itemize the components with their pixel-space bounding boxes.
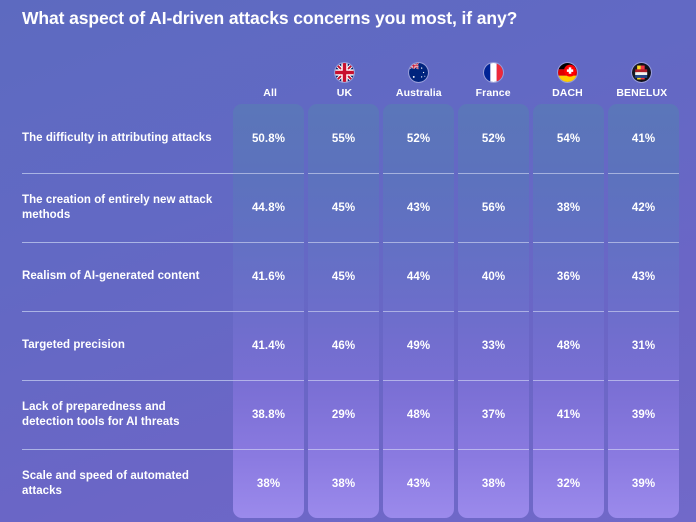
france-flag-icon	[484, 63, 503, 82]
value-cell: 44%	[383, 242, 454, 311]
row-label-text: Lack of preparedness and detection tools…	[22, 400, 219, 430]
value-column-stacks: 50.8% 44.8% 41.6% 41.4% 38.8% 38% 55% 45…	[233, 104, 679, 518]
row-label-column: The difficulty in attributing attacks Th…	[0, 46, 233, 518]
value-cell: 45%	[308, 242, 379, 311]
value-cell: 52%	[383, 104, 454, 173]
row-label-text: Scale and speed of automated attacks	[22, 469, 219, 499]
value-cell: 39%	[608, 380, 679, 449]
no-flag-icon	[261, 63, 280, 82]
row-label-cell: Realism of AI-generated content	[0, 242, 233, 311]
value-column-australia: 52% 43% 44% 49% 48% 43%	[383, 104, 454, 518]
column-header-label: BENELUX	[616, 87, 667, 100]
value-cell: 33%	[458, 311, 529, 380]
row-label-text: Realism of AI-generated content	[22, 269, 200, 284]
row-label-list: The difficulty in attributing attacks Th…	[0, 104, 233, 518]
value-column-france: 52% 56% 40% 33% 37% 38%	[458, 104, 529, 518]
row-label-text: The difficulty in attributing attacks	[22, 131, 212, 146]
australia-flag-icon	[409, 63, 428, 82]
value-cell: 37%	[458, 380, 529, 449]
value-cell: 36%	[533, 242, 604, 311]
value-cell: 46%	[308, 311, 379, 380]
value-cell: 52%	[458, 104, 529, 173]
data-grid: The difficulty in attributing attacks Th…	[0, 46, 696, 518]
value-cell: 50.8%	[233, 104, 304, 173]
value-cell: 43%	[383, 173, 454, 242]
value-columns: All	[233, 46, 679, 518]
column-header-australia: Australia	[382, 46, 456, 104]
value-cell: 41.4%	[233, 311, 304, 380]
column-header-dach: DACH	[530, 46, 604, 104]
value-cell: 48%	[383, 380, 454, 449]
column-header-all: All	[233, 46, 307, 104]
value-column-dach: 54% 38% 36% 48% 41% 32%	[533, 104, 604, 518]
value-cell: 43%	[608, 242, 679, 311]
column-header-label: France	[476, 87, 511, 100]
value-cell: 55%	[308, 104, 379, 173]
value-column-all: 50.8% 44.8% 41.6% 41.4% 38.8% 38%	[233, 104, 304, 518]
column-header-label: All	[263, 87, 277, 100]
value-cell: 39%	[608, 449, 679, 518]
value-cell: 48%	[533, 311, 604, 380]
value-cell: 41%	[533, 380, 604, 449]
value-column-uk: 55% 45% 45% 46% 29% 38%	[308, 104, 379, 518]
value-cell: 49%	[383, 311, 454, 380]
row-label-text: The creation of entirely new attack meth…	[22, 193, 219, 223]
value-cell: 44.8%	[233, 173, 304, 242]
value-cell: 41%	[608, 104, 679, 173]
value-cell: 31%	[608, 311, 679, 380]
row-label-cell: Targeted precision	[0, 311, 233, 380]
value-cell: 38%	[458, 449, 529, 518]
value-cell: 40%	[458, 242, 529, 311]
value-cell: 38%	[233, 449, 304, 518]
column-header-row: All	[233, 46, 679, 104]
column-header-france: France	[456, 46, 530, 104]
row-label-cell: Lack of preparedness and detection tools…	[0, 380, 233, 449]
value-cell: 32%	[533, 449, 604, 518]
infographic-table: What aspect of AI-driven attacks concern…	[0, 0, 696, 522]
page-title: What aspect of AI-driven attacks concern…	[22, 8, 517, 29]
value-cell: 54%	[533, 104, 604, 173]
value-column-benelux: 41% 42% 43% 31% 39% 39%	[608, 104, 679, 518]
column-header-label: UK	[337, 87, 352, 100]
value-cell: 56%	[458, 173, 529, 242]
row-label-cell: Scale and speed of automated attacks	[0, 449, 233, 518]
row-label-cell: The difficulty in attributing attacks	[0, 104, 233, 173]
value-cell: 45%	[308, 173, 379, 242]
dach-flag-icon	[558, 63, 577, 82]
value-cell: 29%	[308, 380, 379, 449]
benelux-flag-icon	[632, 63, 651, 82]
column-header-benelux: BENELUX	[605, 46, 679, 104]
column-header-label: DACH	[552, 87, 583, 100]
value-cell: 43%	[383, 449, 454, 518]
value-cell: 42%	[608, 173, 679, 242]
column-header-label: Australia	[396, 87, 442, 100]
value-cell: 38%	[533, 173, 604, 242]
row-label-text: Targeted precision	[22, 338, 125, 353]
row-label-cell: The creation of entirely new attack meth…	[0, 173, 233, 242]
value-cell: 38.8%	[233, 380, 304, 449]
uk-flag-icon	[335, 63, 354, 82]
value-cell: 41.6%	[233, 242, 304, 311]
value-cell: 38%	[308, 449, 379, 518]
column-header-uk: UK	[307, 46, 381, 104]
